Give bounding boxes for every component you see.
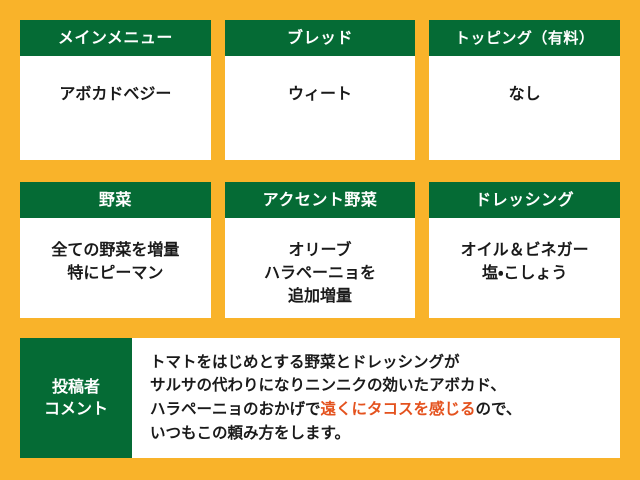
poster-comment-line: トマトをはじめとする野菜とドレッシングが bbox=[150, 351, 610, 375]
card-main-menu: メインメニュー アボカドベジー bbox=[20, 20, 211, 160]
poster-comment-block: 投稿者 コメント トマトをはじめとする野菜とドレッシングがサルサの代わりになりニ… bbox=[20, 338, 620, 458]
card-value-dressing: オイル＆ビネガー 塩・こしょう bbox=[455, 238, 595, 284]
card-value-accent-vegetables: オリーブ ハラペーニョを 追加増量 bbox=[258, 238, 382, 308]
card-accent-vegetables: アクセント野菜 オリーブ ハラペーニョを 追加増量 bbox=[225, 182, 416, 318]
poster-comment-label: 投稿者 コメント bbox=[20, 338, 132, 458]
card-header-dressing: ドレッシング bbox=[429, 182, 620, 218]
card-body-main-menu: アボカドベジー bbox=[20, 56, 211, 160]
card-body-topping: なし bbox=[429, 56, 620, 160]
comment-text: いつもこの頼み方をします。 bbox=[150, 424, 350, 442]
card-body-bread: ウィート bbox=[225, 56, 416, 160]
card-value-vegetables: 全ての野菜を増量 特にピーマン bbox=[45, 238, 185, 284]
card-header-bread: ブレッド bbox=[225, 20, 416, 56]
poster-comment-line: いつもこの頼み方をします。 bbox=[150, 422, 610, 446]
comment-text: トマトをはじめとする野菜とドレッシングが bbox=[150, 353, 460, 371]
card-body-accent-vegetables: オリーブ ハラペーニョを 追加増量 bbox=[225, 218, 416, 318]
comment-text: ので、 bbox=[476, 400, 522, 418]
card-vegetables: 野菜 全ての野菜を増量 特にピーマン bbox=[20, 182, 211, 318]
card-body-dressing: オイル＆ビネガー 塩・こしょう bbox=[429, 218, 620, 318]
poster-comment-line: ハラペーニョのおかげで遠くにタコスを感じるので、 bbox=[150, 398, 610, 422]
card-topping: トッピング（有料） なし bbox=[429, 20, 620, 160]
card-row-1: メインメニュー アボカドベジー ブレッド ウィート トッピング（有料） なし bbox=[20, 20, 620, 160]
card-body-vegetables: 全ての野菜を増量 特にピーマン bbox=[20, 218, 211, 318]
poster-comment-body: トマトをはじめとする野菜とドレッシングがサルサの代わりになりニンニクの効いたアボ… bbox=[132, 338, 620, 458]
poster-comment-line: サルサの代わりになりニンニクの効いたアボカド、 bbox=[150, 374, 610, 398]
card-header-accent-vegetables: アクセント野菜 bbox=[225, 182, 416, 218]
card-row-2: 野菜 全ての野菜を増量 特にピーマン アクセント野菜 オリーブ ハラペーニョを … bbox=[20, 182, 620, 318]
card-value-main-menu: アボカドベジー bbox=[53, 82, 177, 105]
card-header-vegetables: 野菜 bbox=[20, 182, 211, 218]
card-dressing: ドレッシング オイル＆ビネガー 塩・こしょう bbox=[429, 182, 620, 318]
order-summary-sheet: メインメニュー アボカドベジー ブレッド ウィート トッピング（有料） なし 野… bbox=[0, 0, 640, 480]
comment-text: サルサの代わりになりニンニクの効いたアボカド、 bbox=[150, 376, 506, 394]
card-value-topping: なし bbox=[503, 82, 547, 105]
card-header-main-menu: メインメニュー bbox=[20, 20, 211, 56]
card-value-bread: ウィート bbox=[282, 82, 358, 105]
highlighted-phrase: 遠くにタコスを感じる bbox=[321, 400, 476, 418]
comment-text: ハラペーニョのおかげで bbox=[150, 400, 321, 418]
card-header-topping: トッピング（有料） bbox=[429, 20, 620, 56]
card-bread: ブレッド ウィート bbox=[225, 20, 416, 160]
